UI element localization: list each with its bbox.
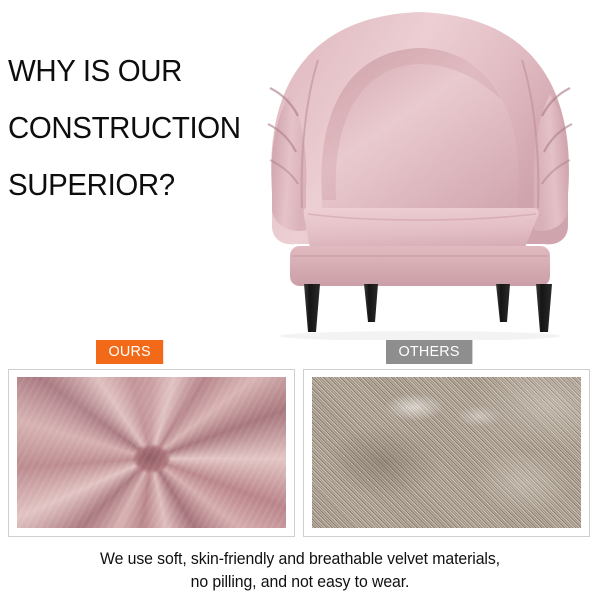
coarse-burlap-fabric-swatch <box>312 377 581 528</box>
headline-line-3: SUPERIOR? <box>8 156 246 213</box>
page-title: WHY IS OUR CONSTRUCTION SUPERIOR? <box>8 42 258 213</box>
ours-badge: OURS <box>96 340 163 364</box>
chair-leg <box>496 284 510 322</box>
others-badge: OTHERS <box>386 340 472 364</box>
hero-section: WHY IS OUR CONSTRUCTION SUPERIOR? <box>0 0 600 340</box>
velvet-swirl-center <box>135 446 169 472</box>
ours-swatch-frame <box>8 369 295 537</box>
pink-velvet-barrel-accent-chair-image <box>248 0 592 340</box>
chair-leg <box>304 284 320 332</box>
pink-velvet-fabric-swatch <box>17 377 286 528</box>
others-swatch-frame <box>303 369 590 537</box>
chair-leg <box>364 284 378 322</box>
comparison-column-others: OTHERS <box>303 340 590 537</box>
headline-line-2: CONSTRUCTION <box>8 99 246 156</box>
comparison-section: OURS OTHERS <box>0 340 600 545</box>
comparison-column-ours: OURS <box>8 340 295 537</box>
caption-line-2: no pilling, and not easy to wear. <box>12 571 588 594</box>
caption: We use soft, skin-friendly and breathabl… <box>0 548 600 594</box>
headline-line-1: WHY IS OUR <box>8 42 246 99</box>
caption-line-1: We use soft, skin-friendly and breathabl… <box>12 548 588 571</box>
chair-leg <box>536 284 552 332</box>
